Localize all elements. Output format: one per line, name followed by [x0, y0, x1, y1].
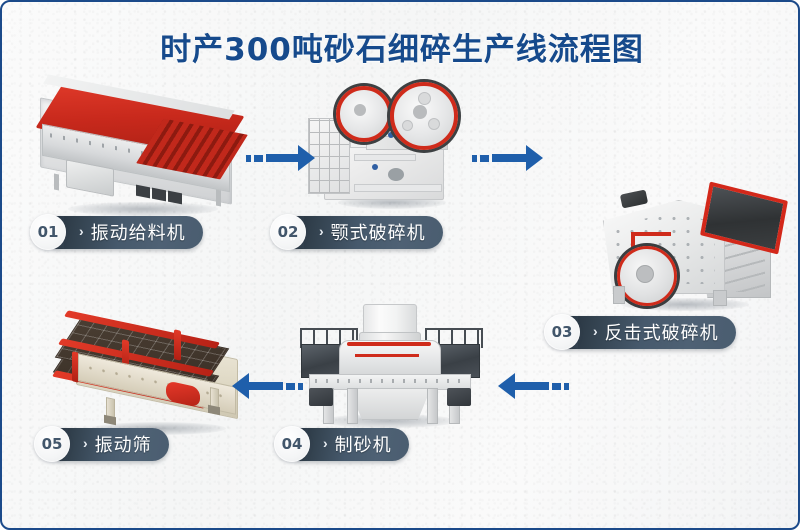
page-title: 时产300吨砂石细碎生产线流程图 [2, 24, 800, 69]
step-label-01: 振动给料机 [91, 219, 186, 245]
step-label-04: 制砂机 [335, 431, 392, 457]
sand-leg [347, 388, 358, 424]
impact-red-bracket [631, 232, 635, 248]
jaw-bolt [388, 132, 394, 138]
machine-vibrating-feeder [32, 90, 247, 212]
step-number-01: 01 [30, 214, 66, 250]
feeder-leg [54, 174, 59, 191]
chevron-right-icon: › [83, 436, 88, 450]
jaw-bolt [372, 164, 378, 170]
jaw-rib [354, 184, 442, 192]
sand-red-stripe [347, 342, 431, 346]
step-badge-04[interactable]: 04 › 制砂机 [274, 426, 409, 462]
arrow-tail-dash [286, 383, 295, 390]
jaw-rib [354, 154, 416, 161]
feeder-foot [152, 188, 166, 202]
step-label-plate-05[interactable]: › 振动筛 [57, 428, 169, 461]
screen-foot [208, 405, 220, 416]
arrow-feeder-to-jaw [246, 145, 315, 171]
step-number-04: 04 [274, 426, 310, 462]
arrow-sand-to-screen [232, 373, 303, 399]
step-badge-01[interactable]: 01 › 振动给料机 [30, 214, 203, 250]
jaw-inspection-port [388, 168, 404, 181]
step-label-05: 振动筛 [95, 431, 152, 457]
feeder-leg [216, 190, 221, 207]
arrow-impact-to-sand [498, 373, 569, 399]
arrow-head-icon [298, 145, 315, 171]
step-label-plate-02[interactable]: › 颚式破碎机 [293, 216, 443, 249]
arrow-tail-dash [552, 383, 561, 390]
step-number-02: 02 [270, 214, 306, 250]
arrow-tail-dash [480, 155, 489, 162]
sand-motor-box [447, 388, 471, 406]
step-label-plate-01[interactable]: › 振动给料机 [53, 216, 203, 249]
arrow-tail-dot [472, 155, 477, 162]
sand-motor-box [309, 388, 333, 406]
arrow-head-icon [526, 145, 543, 171]
step-label-03: 反击式破碎机 [605, 319, 719, 345]
screen-post [174, 329, 181, 360]
sand-deck-rivets [315, 379, 463, 383]
arrow-shaft [515, 382, 549, 390]
arrow-head-icon [498, 373, 515, 399]
arrow-tail-dash [254, 155, 263, 162]
jaw-flywheel-hole [428, 118, 440, 130]
machine-sand-maker [287, 302, 492, 426]
step-badge-05[interactable]: 05 › 振动筛 [34, 426, 169, 462]
step-number-05: 05 [34, 426, 70, 462]
machine-jaw-crusher [302, 80, 472, 212]
arrow-tail-dot [246, 155, 251, 162]
impact-red-bracket [631, 232, 671, 236]
chevron-right-icon: › [319, 224, 324, 238]
feeder-foot [136, 185, 150, 199]
impact-flywheel-hub [636, 265, 654, 283]
step-label-plate-03[interactable]: › 反击式破碎机 [567, 316, 736, 349]
arrow-shaft [249, 382, 283, 390]
flowchart-page: 时产300吨砂石细碎生产线流程图 [0, 0, 800, 530]
sand-leg [427, 388, 438, 424]
step-label-02: 颚式破碎机 [331, 219, 426, 245]
chevron-right-icon: › [323, 436, 328, 450]
step-label-plate-04[interactable]: › 制砂机 [297, 428, 409, 461]
arrow-shaft [266, 154, 298, 162]
jaw-flywheel-hub [354, 104, 366, 116]
arrow-tail-dot [564, 383, 569, 390]
arrow-shaft [492, 154, 526, 162]
step-number-03: 03 [544, 314, 580, 350]
impact-leg [613, 286, 625, 304]
sand-red-stripe [355, 354, 419, 357]
arrow-tail-dot [298, 383, 303, 390]
arrow-head-icon [232, 373, 249, 399]
chevron-right-icon: › [593, 324, 598, 338]
sand-discharge-hopper [349, 388, 431, 420]
arrow-jaw-to-impact [472, 145, 543, 171]
jaw-flywheel-hub [413, 105, 427, 119]
step-badge-03[interactable]: 03 › 反击式破碎机 [544, 314, 736, 350]
jaw-flywheel-hole [418, 92, 431, 105]
impact-leg [713, 290, 727, 306]
step-badge-02[interactable]: 02 › 颚式破碎机 [270, 214, 443, 250]
machine-impact-crusher [597, 174, 787, 324]
impact-motor [620, 189, 648, 208]
chevron-right-icon: › [79, 224, 84, 238]
machine-vibrating-screen [62, 324, 252, 434]
jaw-flywheel-hole [402, 120, 413, 131]
